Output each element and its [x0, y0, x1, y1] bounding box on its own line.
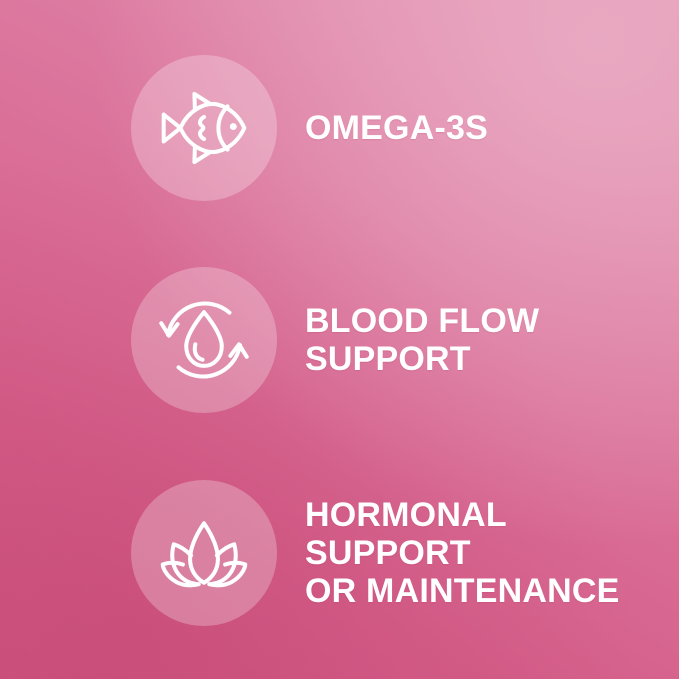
feature-label: BLOOD FLOW SUPPORT	[305, 302, 539, 378]
feature-row: HORMONAL SUPPORT OR MAINTENANCE	[0, 480, 679, 626]
fish-icon	[156, 80, 252, 176]
lotus-flower-icon	[156, 505, 252, 601]
feature-label: OMEGA-3S	[305, 109, 488, 147]
icon-badge-lotus	[131, 480, 277, 626]
feature-label: HORMONAL SUPPORT OR MAINTENANCE	[305, 496, 679, 610]
benefits-poster: OMEGA-3S BLOOD	[0, 0, 679, 679]
feature-row: OMEGA-3S	[0, 55, 679, 201]
icon-badge-blood-flow	[131, 267, 277, 413]
feature-list: OMEGA-3S BLOOD	[0, 0, 679, 679]
icon-badge-fish	[131, 55, 277, 201]
feature-row: BLOOD FLOW SUPPORT	[0, 267, 679, 413]
blood-flow-drop-icon	[156, 292, 252, 388]
